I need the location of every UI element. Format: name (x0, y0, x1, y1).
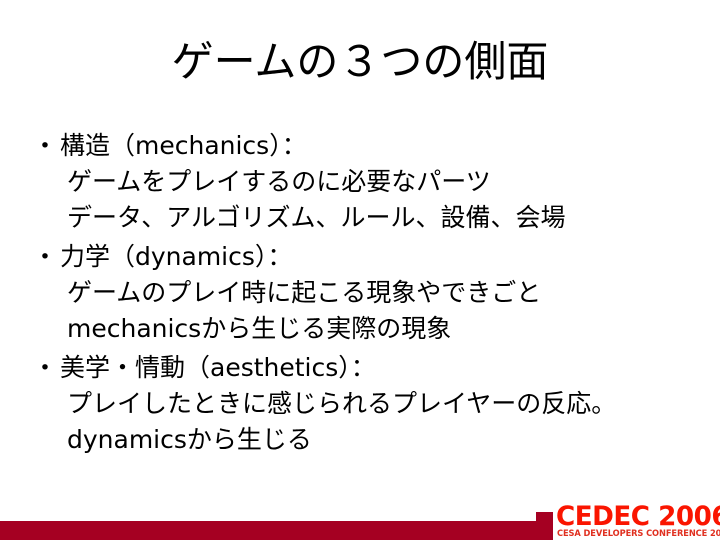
bullet-heading-row: • 美学・情動（aesthetics）： (30, 350, 710, 386)
bullet-detail-line: mechanicsから生じる実際の現象 (30, 311, 710, 347)
page-title: ゲームの３つの側面 (0, 38, 720, 85)
bullet-detail-line: ゲームをプレイするのに必要なパーツ (30, 164, 710, 200)
bullet-heading-row: • 構造（mechanics）： (30, 128, 710, 164)
bullet-detail-line: データ、アルゴリズム、ルール、設備、会場 (30, 200, 710, 236)
bullet-heading-text: 構造（mechanics）： (60, 128, 307, 164)
bullet-heading-row: • 力学（dynamics）： (30, 239, 710, 275)
footer-red-block (536, 512, 553, 540)
footer-red-bar (0, 521, 548, 540)
list-item: • 構造（mechanics）： ゲームをプレイするのに必要なパーツ データ、ア… (30, 128, 710, 236)
bullet-dot-icon: • (30, 350, 60, 386)
bullet-heading-text: 美学・情動（aesthetics）： (60, 350, 376, 386)
bullet-list: • 構造（mechanics）： ゲームをプレイするのに必要なパーツ データ、ア… (30, 128, 710, 461)
cedec-logo: CEDEC 2006 CESA DEVELOPERS CONFERENCE 20… (556, 500, 720, 540)
bullet-dot-icon: • (30, 128, 60, 164)
cedec-logo-title: CEDEC 2006 (556, 503, 720, 530)
bullet-detail-line: プレイしたときに感じられるプレイヤーの反応。 (30, 386, 710, 422)
list-item: • 美学・情動（aesthetics）： プレイしたときに感じられるプレイヤーの… (30, 350, 710, 458)
list-item: • 力学（dynamics）： ゲームのプレイ時に起こる現象やできごと mech… (30, 239, 710, 347)
bullet-detail-line: ゲームのプレイ時に起こる現象やできごと (30, 275, 710, 311)
bullet-detail-line: dynamicsから生じる (30, 422, 710, 458)
cedec-logo-subtitle: CESA DEVELOPERS CONFERENCE 2006 (557, 530, 720, 539)
bullet-dot-icon: • (30, 239, 60, 275)
slide: ゲームの３つの側面 • 構造（mechanics）： ゲームをプレイするのに必要… (0, 0, 720, 540)
bullet-heading-text: 力学（dynamics）： (60, 239, 292, 275)
